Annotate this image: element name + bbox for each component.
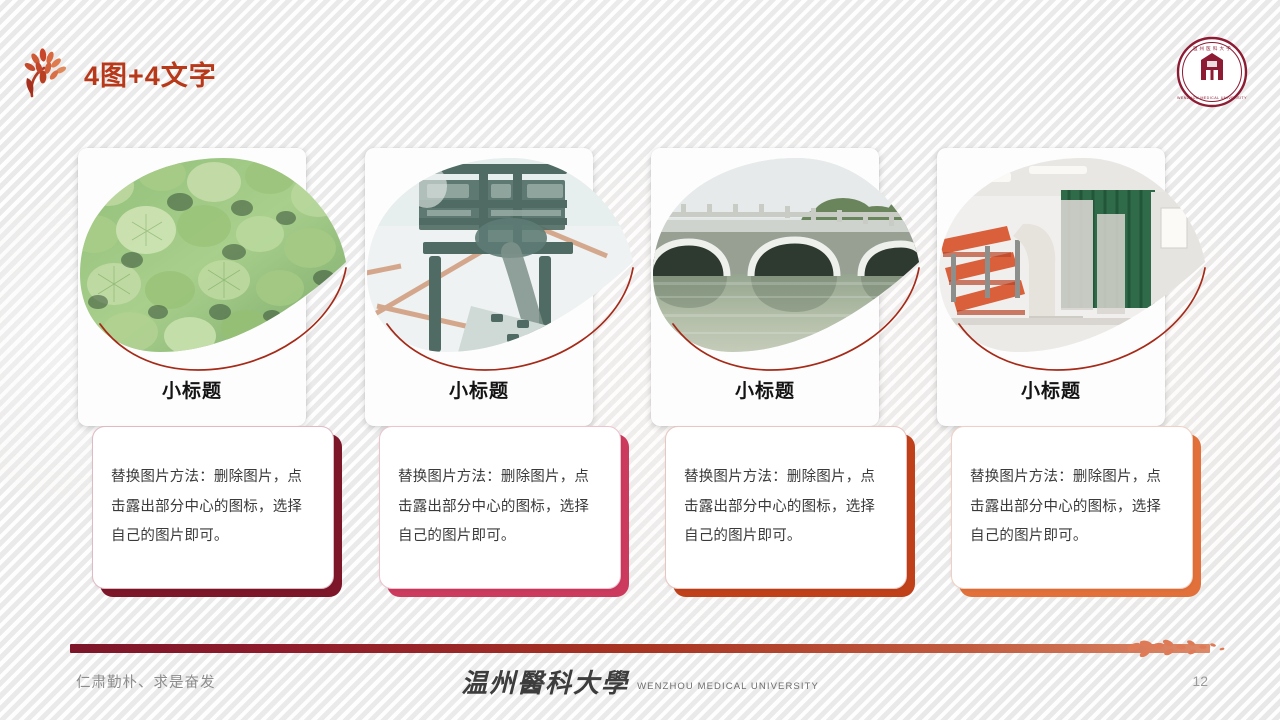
wheat-sprig-icon (18, 44, 74, 100)
page-number: 12 (1192, 673, 1208, 689)
card-body-text: 替换图片方法：删除图片，点击露出部分中心的图标，选择自己的图片即可。 (380, 463, 620, 552)
text-box-body: 替换图片方法：删除图片，点击露出部分中心的图标，选择自己的图片即可。 (951, 426, 1193, 589)
footer-university-name-cn: 温州醫科大學 (461, 669, 629, 699)
card-heading: 小标题 (365, 376, 593, 403)
text-box-body: 替换图片方法：删除图片，点击露出部分中心的图标，选择自己的图片即可。 (92, 426, 334, 589)
leaf-outline-icon (933, 156, 1211, 380)
leaf-outline-icon (361, 156, 639, 380)
footer-divider (70, 644, 1210, 653)
content-card[interactable]: 小标题 (78, 148, 306, 426)
water-lettuce-pond-photo (69, 156, 352, 356)
card-body-text: 替换图片方法：删除图片，点击露出部分中心的图标，选择自己的图片即可。 (666, 463, 906, 552)
wenzhou-medical-university-seal-icon: 温 州 医 科 大 学 WENZHOU MEDICAL UNIVERSITY (1176, 36, 1248, 108)
text-box-body: 替换图片方法：删除图片，点击露出部分中心的图标，选择自己的图片即可。 (379, 426, 621, 589)
card-text-box[interactable]: 替换图片方法：删除图片，点击露出部分中心的图标，选择自己的图片即可。 (665, 426, 907, 589)
stone-arch-bridge-river-photo (647, 156, 931, 356)
leaf-image-frame (74, 156, 352, 364)
leaf-image-frame (647, 156, 925, 364)
page-title: 4图+4文字 (84, 54, 217, 93)
footer-university-name-en: WENZHOU MEDICAL UNIVERSITY (637, 681, 819, 692)
leaf-outline-icon (74, 156, 352, 380)
card-body-text: 替换图片方法：删除图片，点击露出部分中心的图标，选择自己的图片即可。 (952, 463, 1192, 552)
scattered-petals-icon (1128, 634, 1238, 662)
card-text-box[interactable]: 替换图片方法：删除图片，点击露出部分中心的图标，选择自己的图片即可。 (379, 426, 621, 589)
slide-header: 4图+4文字 温 州 医 科 大 学 WENZHOU MEDICAL UNIVE… (0, 0, 1280, 120)
content-card[interactable]: 小标题 (937, 148, 1165, 426)
card-heading: 小标题 (78, 376, 306, 403)
svg-text:WENZHOU MEDICAL UNIVERSITY: WENZHOU MEDICAL UNIVERSITY (1177, 96, 1247, 100)
card-text-box[interactable]: 替换图片方法：删除图片，点击露出部分中心的图标，选择自己的图片即可。 (951, 426, 1193, 589)
text-box-body: 替换图片方法：删除图片，点击露出部分中心的图标，选择自己的图片即可。 (665, 426, 907, 589)
footer-university-signature: 温州醫科大學WENZHOU MEDICAL UNIVERSITY (0, 663, 1280, 700)
leaf-image-frame (933, 156, 1211, 364)
card-text-box[interactable]: 替换图片方法：删除图片，点击露出部分中心的图标，选择自己的图片即可。 (92, 426, 334, 589)
svg-text:温 州 医 科 大 学: 温 州 医 科 大 学 (1193, 45, 1231, 52)
card-heading: 小标题 (937, 376, 1165, 403)
slide-canvas: 4图+4文字 温 州 医 科 大 学 WENZHOU MEDICAL UNIVE… (0, 0, 1280, 720)
lecture-hall-seats-photo (933, 156, 1211, 356)
card-heading: 小标题 (651, 376, 879, 403)
content-card[interactable]: 小标题 (365, 148, 593, 426)
card-body-text: 替换图片方法：删除图片，点击露出部分中心的图标，选择自己的图片即可。 (93, 463, 333, 552)
leaf-image-frame (361, 156, 639, 364)
content-card[interactable]: 小标题 (651, 148, 879, 426)
leaf-outline-icon (647, 156, 925, 380)
ornate-ironwork-railing-photo (351, 156, 639, 356)
